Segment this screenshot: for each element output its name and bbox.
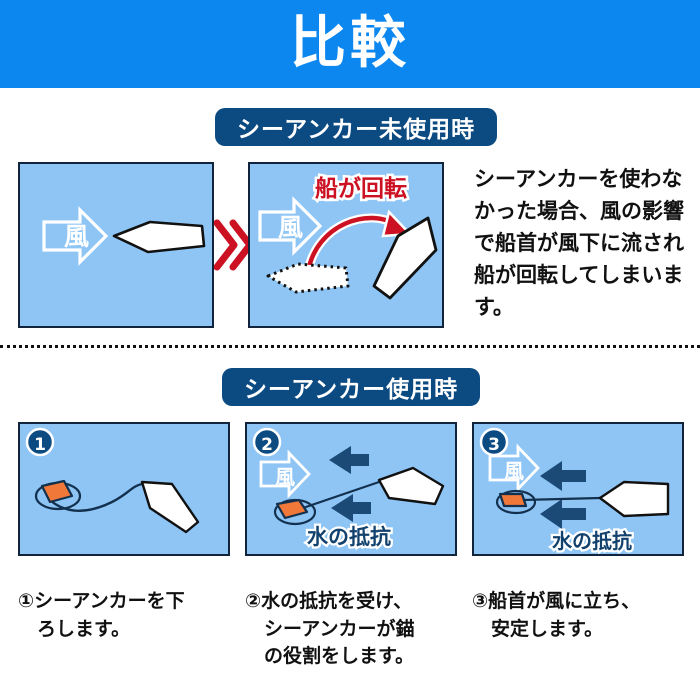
- resistance-label-step3: 水の抵抗: [552, 529, 632, 553]
- caption-step-3: ③船首が風に立ち、 安定します。: [472, 588, 686, 643]
- panel-without-anchor-after: 風 船が回転: [248, 162, 444, 328]
- panel-step-2: 2 風 水の抵抗: [245, 422, 457, 556]
- rotation-label: 船が回転: [315, 175, 407, 202]
- resistance-arrow-lower-icon: [540, 499, 586, 529]
- caption-step-2-line3: の役割をします。: [245, 643, 459, 671]
- infographic-page: 比較 シーアンカー未使用時 風 風: [0, 0, 700, 700]
- page-title: 比較: [290, 16, 410, 72]
- boat-shape-step2: [379, 468, 443, 504]
- svg-text:2: 2: [261, 435, 273, 455]
- resistance-arrow-upper-icon: [329, 446, 369, 474]
- svg-text:3: 3: [488, 435, 500, 455]
- boat-shape-drifting: [114, 222, 204, 252]
- resistance-label-step2: 水の抵抗: [307, 525, 391, 549]
- caption-step-3-line2: 安定します。: [472, 616, 686, 644]
- wind-label-b: 風: [278, 213, 303, 242]
- step-badge-3: 3: [481, 429, 507, 455]
- caption-step-1-line2: ろします。: [18, 616, 232, 644]
- panel-3-illustration: 3 風 水の抵抗: [474, 424, 682, 554]
- wind-label-step3: 風: [504, 459, 524, 483]
- boat-shape-step3: [600, 482, 668, 516]
- resistance-arrow-lower-icon: [331, 494, 371, 522]
- sea-anchor-icon: [277, 500, 307, 518]
- section-heading-with-anchor: シーアンカー使用時: [222, 368, 480, 406]
- panel-2-illustration: 2 風 水の抵抗: [247, 424, 455, 554]
- caption-step-3-line1: ③船首が風に立ち、: [472, 590, 640, 612]
- boat-shape-step1: [142, 482, 198, 532]
- boat-shape-ghost: [268, 264, 348, 292]
- resistance-arrow-upper-icon: [540, 461, 586, 491]
- caption-step-1-line1: ①シーアンカーを下: [18, 590, 185, 612]
- panel-1-illustration: 1: [20, 424, 228, 554]
- caption-step-2-line2: シーアンカーが錨: [245, 616, 459, 644]
- description-without-anchor: シーアンカーを使わなかった場合、風の影響で船首が風下に流され船が回転してしまいま…: [474, 164, 692, 324]
- wind-label-step2: 風: [275, 465, 295, 489]
- svg-text:1: 1: [34, 435, 46, 455]
- panel-b-illustration: 風 船が回転: [250, 164, 442, 326]
- step-badge-2: 2: [254, 429, 280, 455]
- step-badge-1: 1: [27, 429, 53, 455]
- section-heading-without-anchor: シーアンカー未使用時: [215, 108, 497, 146]
- section-divider: [0, 345, 700, 348]
- wind-label-a: 風: [64, 222, 89, 251]
- header-banner: 比較: [0, 0, 700, 88]
- caption-step-2-line1: ②水の抵抗を受け、: [245, 590, 412, 612]
- caption-step-1: ①シーアンカーを下 ろします。: [18, 588, 232, 643]
- panel-step-3: 3 風 水の抵抗: [472, 422, 684, 556]
- panel-without-anchor-before: 風: [18, 162, 214, 328]
- panel-a-illustration: 風: [20, 164, 212, 326]
- panel-step-1: 1: [18, 422, 230, 556]
- caption-step-2: ②水の抵抗を受け、 シーアンカーが錨 の役割をします。: [245, 588, 459, 671]
